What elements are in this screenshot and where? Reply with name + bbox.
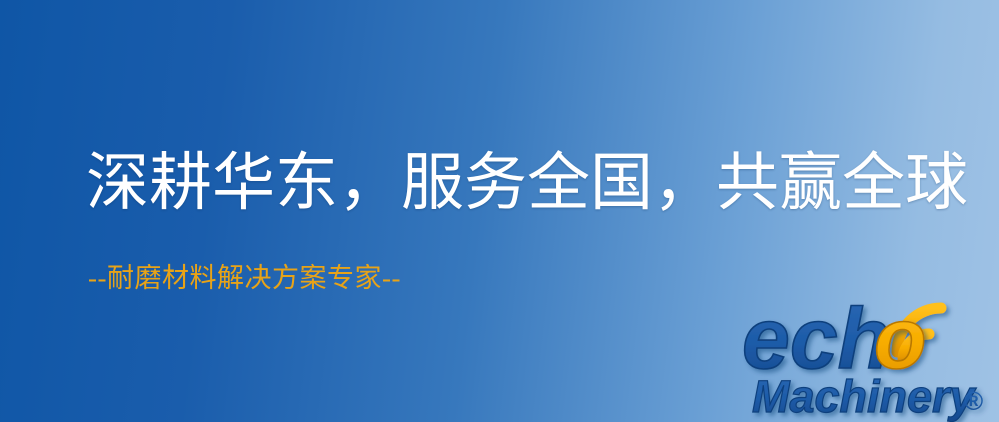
logo-registered-mark: ® (964, 386, 983, 416)
promo-banner: 深耕华东，服务全国，共赢全球 --耐磨材料解决方案专家-- (0, 0, 999, 422)
echo-machinery-logo: ech o Machinery ® (742, 296, 999, 422)
banner-headline: 深耕华东，服务全国，共赢全球 (86, 150, 968, 217)
logo-artwork: ech o Machinery ® (742, 296, 999, 422)
logo-machinery-text: Machinery (752, 371, 977, 422)
banner-subtitle: --耐磨材料解决方案专家-- (88, 264, 401, 294)
